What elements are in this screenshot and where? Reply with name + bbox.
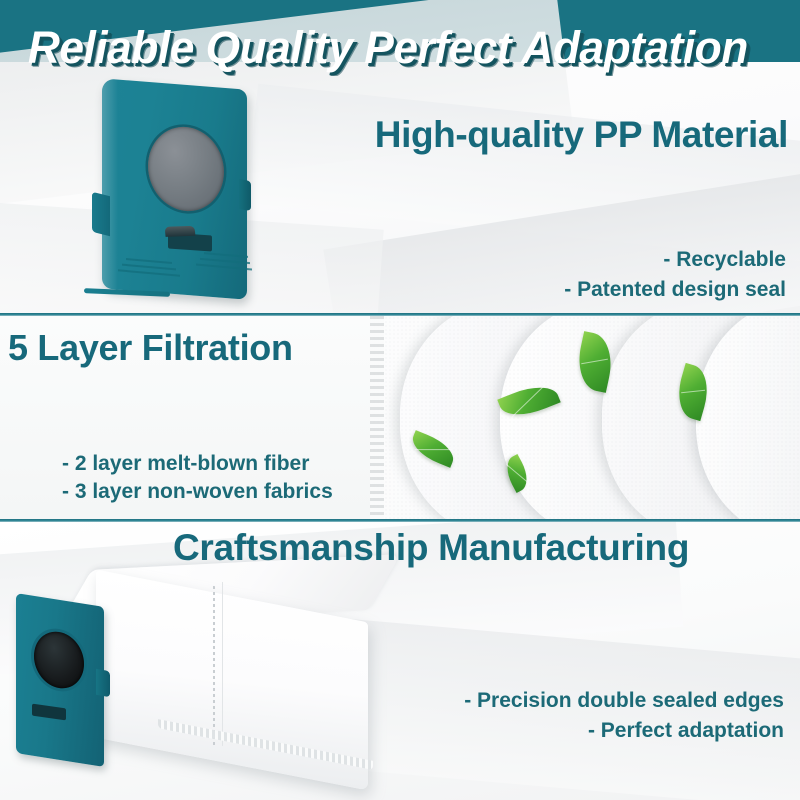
product-image-dust-bag	[8, 562, 398, 777]
bullet-patented-design-seal: - Patented design seal	[564, 275, 786, 305]
headline-banner-text: Reliable Quality Perfect Adaptation	[28, 22, 791, 74]
product-image-filter-layers	[370, 316, 800, 519]
bullet-recyclable: - Recyclable	[564, 245, 786, 275]
section-bullets-5-layer-filtration: - 2 layer melt-blown fiber - 3 layer non…	[62, 450, 333, 506]
collar-plate-latch	[168, 232, 212, 251]
dust-bag-collar-tab	[96, 669, 110, 697]
section-title-high-quality-pp-material: High-quality PP Material	[375, 114, 788, 156]
section-title-craftsmanship-manufacturing: Craftsmanship Manufacturing	[173, 527, 689, 569]
dust-bag-stitch-seam	[213, 586, 215, 746]
product-image-collar-plate	[84, 84, 264, 309]
bullet-precision-double-sealed-edges: - Precision double sealed edges	[464, 686, 784, 716]
dust-bag-seam-line	[222, 582, 223, 746]
section-bullets-craftsmanship-manufacturing: - Precision double sealed edges - Perfec…	[464, 686, 784, 746]
product-infographic: High-quality PP Material - Recyclable - …	[0, 0, 800, 800]
section-bullets-high-quality-pp-material: - Recyclable - Patented design seal	[564, 245, 786, 305]
section-title-5-layer-filtration: 5 Layer Filtration	[8, 327, 293, 369]
collar-plate-right-tab	[239, 179, 251, 211]
bullet-perfect-adaptation: - Perfect adaptation	[464, 716, 784, 746]
collar-plate-left-tab	[92, 192, 110, 236]
fabric-perforated-edge	[370, 316, 384, 519]
bullet-melt-blown-fiber: - 2 layer melt-blown fiber	[62, 450, 333, 478]
bullet-non-woven-fabrics: - 3 layer non-woven fabrics	[62, 478, 333, 506]
